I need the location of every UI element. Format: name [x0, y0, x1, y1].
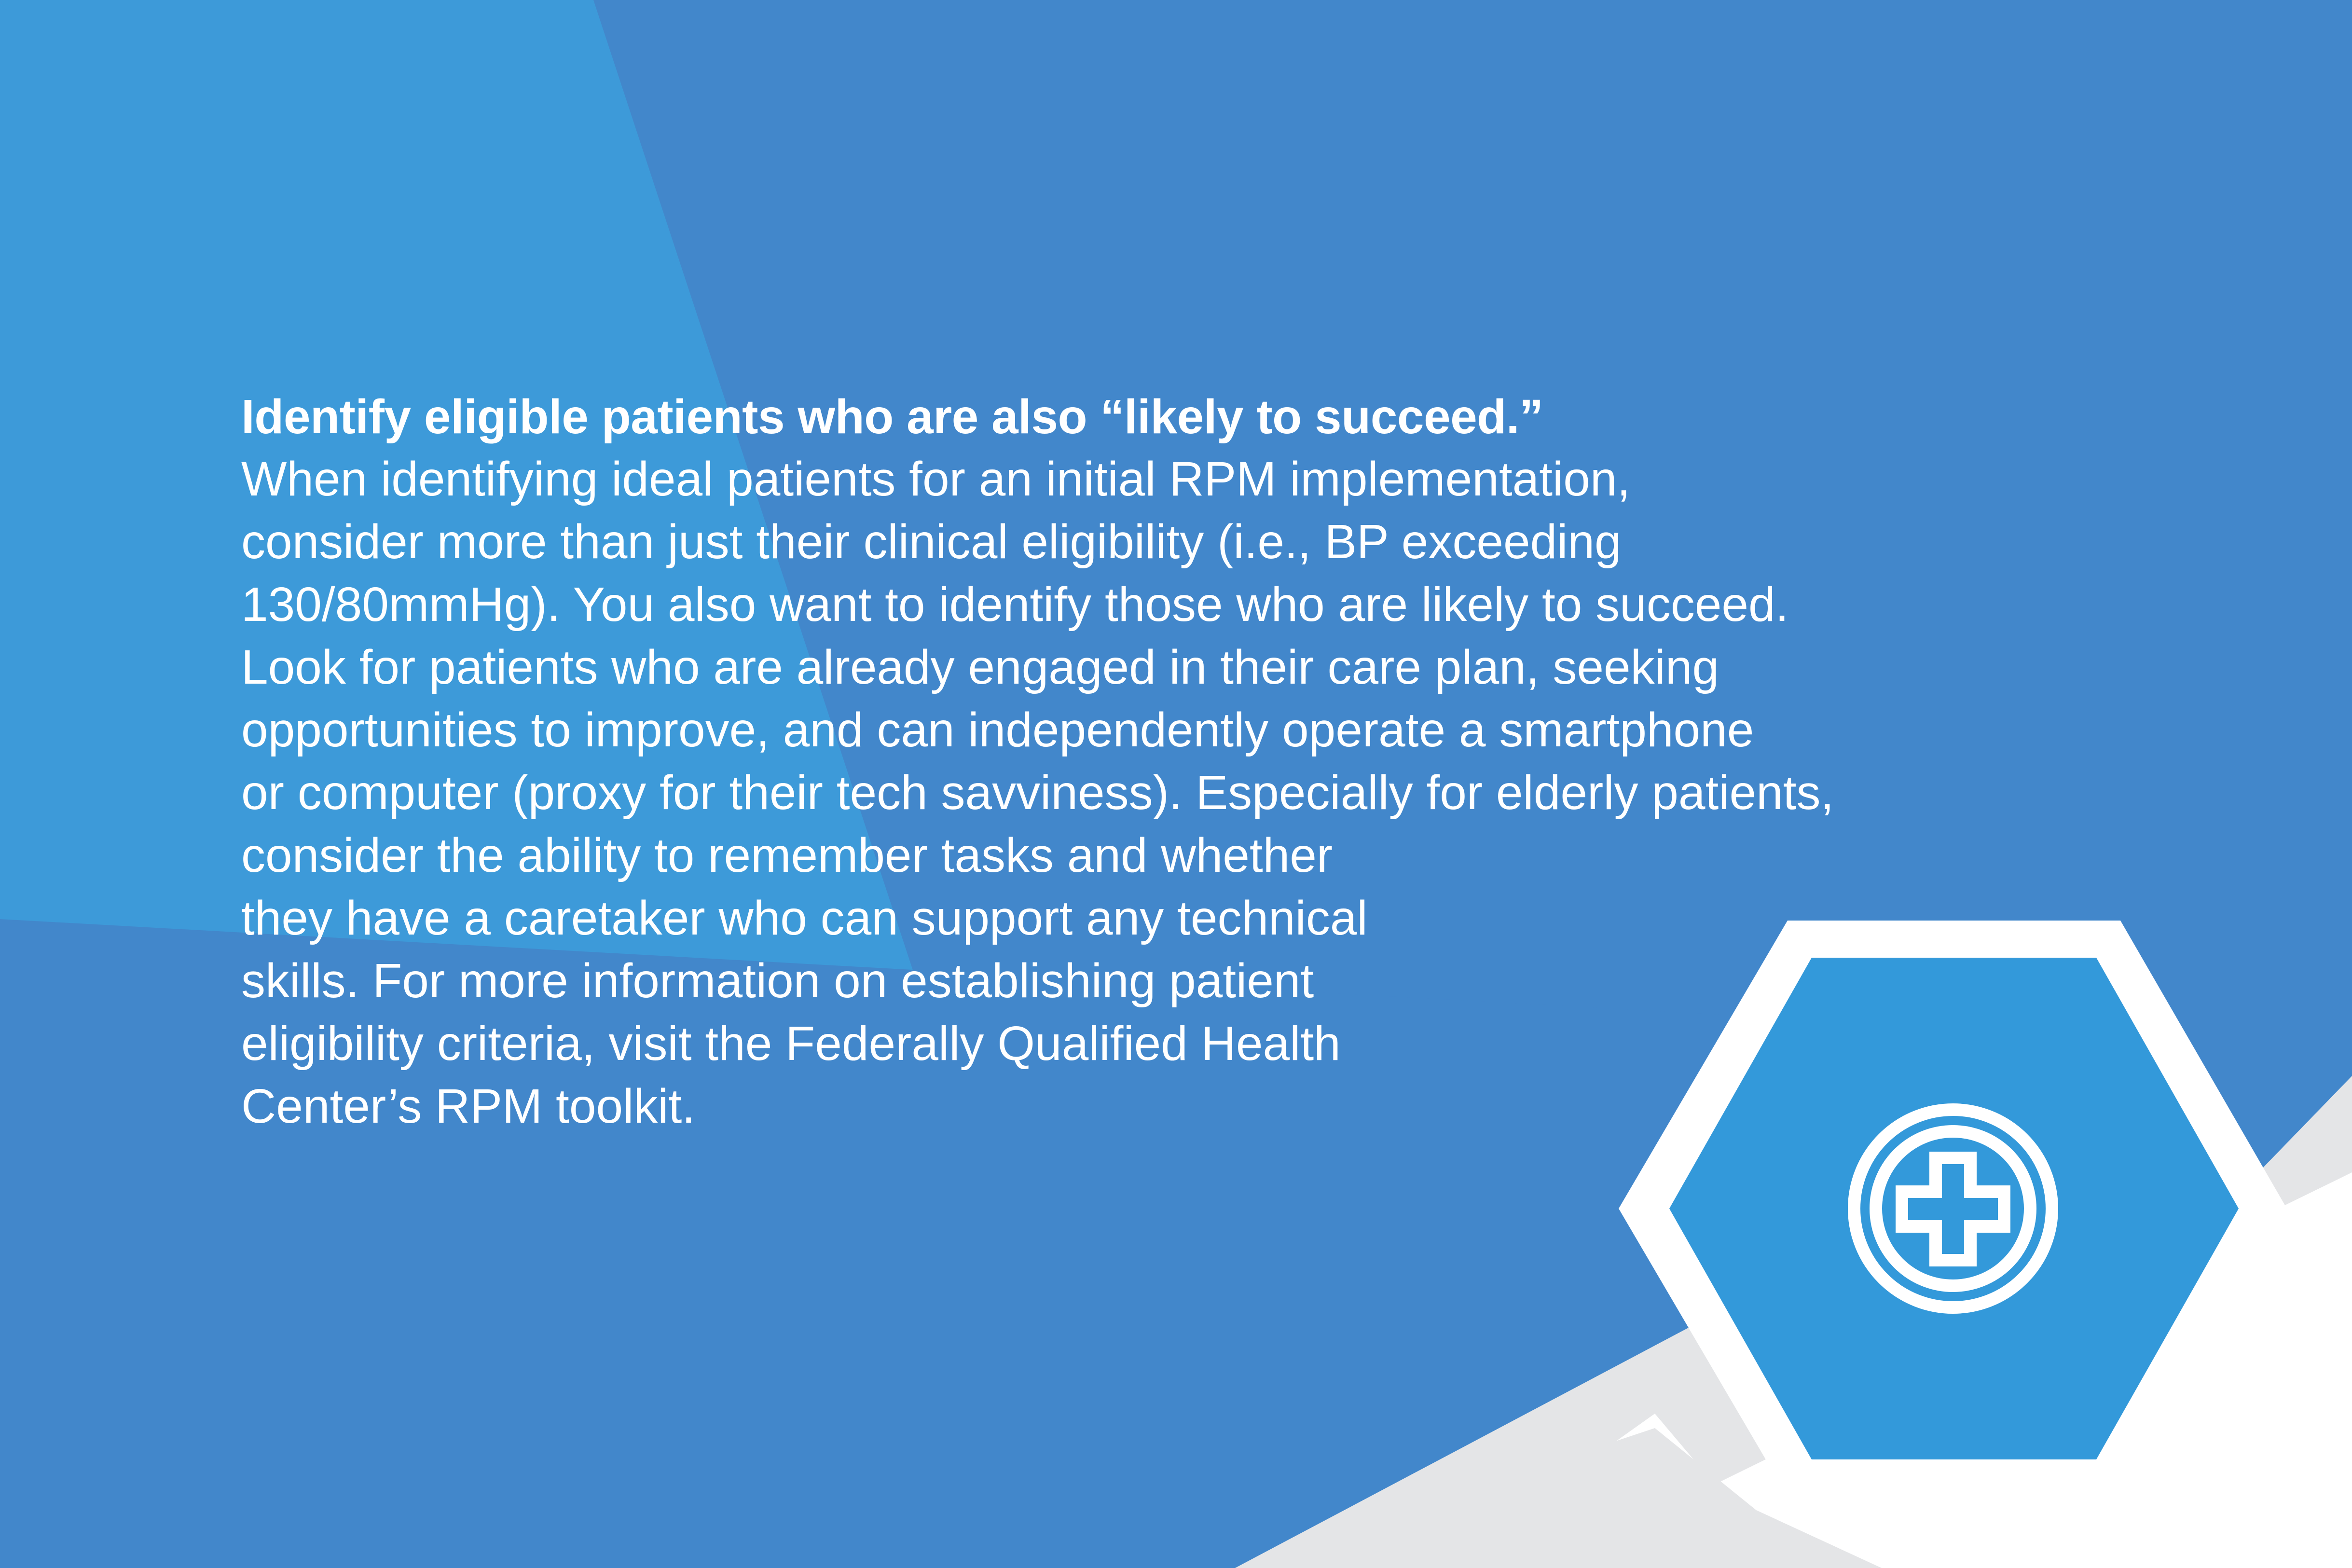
- slide-canvas: Identify eligible patients who are also …: [0, 0, 2352, 1568]
- body-line: or computer (proxy for their tech savvin…: [241, 761, 1891, 824]
- body-line: consider more than just their clinical e…: [241, 510, 1891, 573]
- body-line: 130/80mmHg). You also want to identify t…: [241, 573, 1891, 636]
- text-content-block: Identify eligible patients who are also …: [241, 386, 1891, 1138]
- body-line: Center’s RPM toolkit.: [241, 1075, 1891, 1138]
- body-line: they have a caretaker who can support an…: [241, 887, 1891, 949]
- body-line: consider the ability to remember tasks a…: [241, 824, 1891, 887]
- page-title: Identify eligible patients who are also …: [241, 386, 1891, 448]
- body-paragraph: When identifying ideal patients for an i…: [241, 448, 1891, 1138]
- body-line: eligibility criteria, visit the Federall…: [241, 1012, 1891, 1075]
- body-line: skills. For more information on establis…: [241, 949, 1891, 1012]
- body-line: Look for patients who are already engage…: [241, 636, 1891, 699]
- body-line: When identifying ideal patients for an i…: [241, 448, 1891, 510]
- body-line: opportunities to improve, and can indepe…: [241, 699, 1891, 761]
